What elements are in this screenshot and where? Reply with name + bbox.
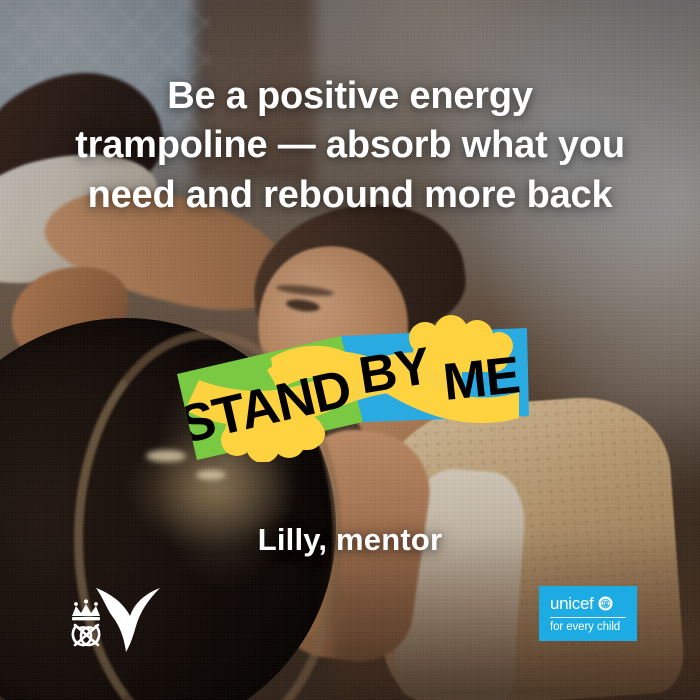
unicef-divider [550, 617, 626, 618]
headline-text: Be a positive energy trampoline — absorb… [30, 72, 670, 220]
logo-word-me: ME [440, 346, 522, 412]
caption-text: Lilly, mentor [0, 522, 700, 558]
monogram-icon [73, 625, 99, 645]
crown-icon [72, 599, 100, 620]
stand-by-me-logo: STAND . BY ME [175, 312, 531, 462]
dove-icon [96, 588, 160, 652]
unicef-logo: unicef for every child [539, 586, 637, 641]
unicef-tagline: for every child [550, 621, 620, 635]
logo-word-by: BY [355, 337, 434, 405]
unicef-globe-icon [598, 596, 613, 611]
poster-canvas: Be a positive energy trampoline — absorb… [0, 0, 700, 700]
unicef-wordmark: unicef [550, 595, 594, 612]
unicef-wordmark-row: unicef [550, 595, 613, 612]
queens-trust-logo [62, 582, 174, 654]
